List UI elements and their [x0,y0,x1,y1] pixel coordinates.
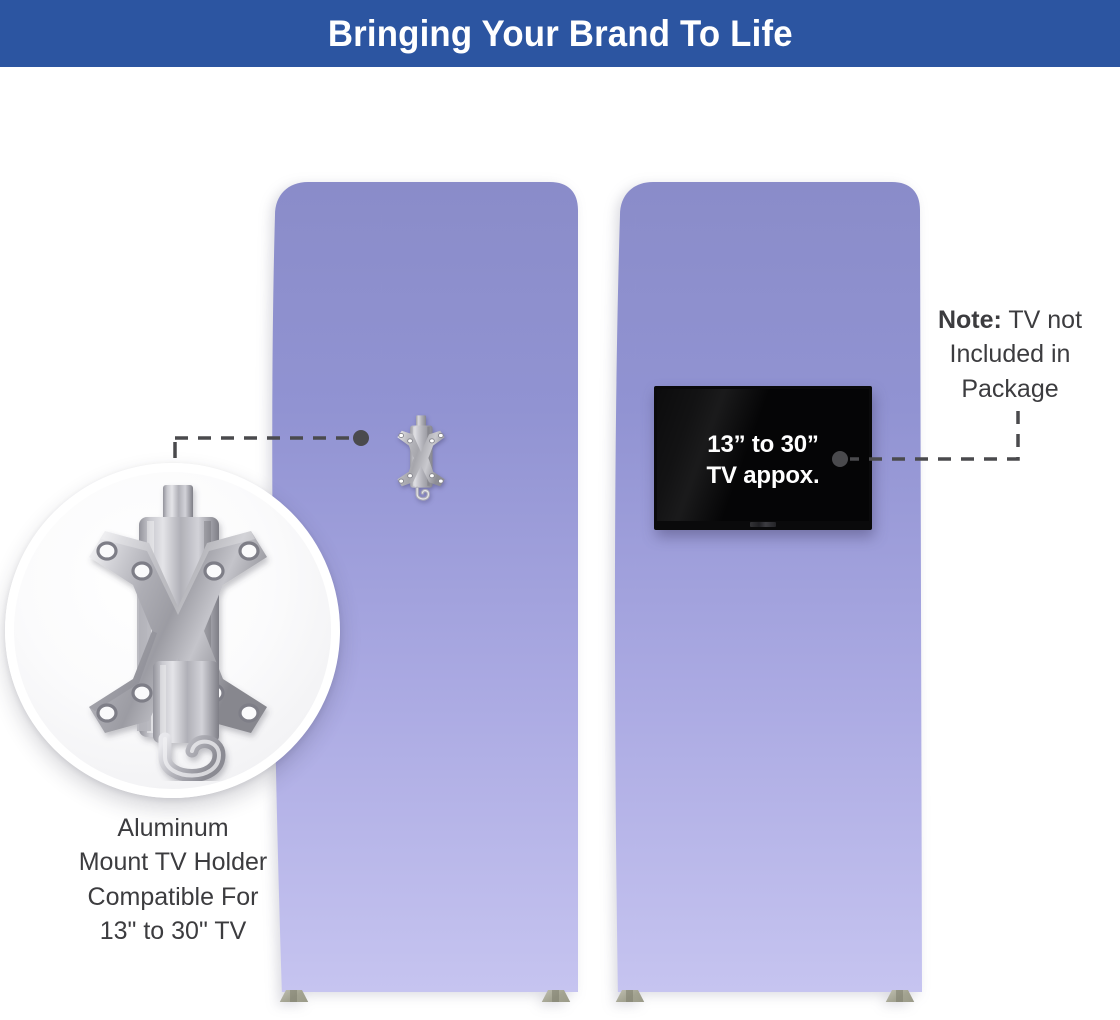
panel-right-fabric [615,182,922,992]
leader-dash-elbow [850,411,1018,459]
header-banner: Bringing Your Brand To Life [0,0,1120,67]
leader-line-to-tv [826,407,1036,477]
tv-caption-line-2: TV appox. [707,462,820,489]
tv-mount-bracket-on-panel [384,412,458,504]
tv-brand-logo [750,522,776,527]
mount-caption: Aluminum Mount TV Holder Compatible For … [18,811,328,948]
note-line-2: Included in [950,340,1071,368]
mount-caption-line-4: 13" to 30" TV [18,914,328,948]
page-title: Bringing Your Brand To Life [328,13,793,55]
note-line-1-rest: TV not [1002,306,1082,334]
mount-caption-line-1: Aluminum [18,811,328,845]
bracket-magnifier-inset [5,463,340,798]
note-label: Note: [938,306,1002,334]
leader-endpoint-dot [832,451,848,467]
tv-not-included-note: Note: TV not Included in Package [912,303,1108,406]
leader-endpoint-dot [353,430,369,446]
leader-line-to-bracket [172,422,372,462]
tv-caption-line-1: 13” to 30” [707,431,818,458]
note-line-3: Package [961,375,1058,403]
mount-caption-line-2: Mount TV Holder [18,845,328,879]
mount-caption-line-3: Compatible For [18,880,328,914]
fabric-display-panel-right [592,112,932,1002]
panel-right-shadow [592,112,932,1002]
product-illustration-stage: 13” to 30” TV appox. Note: TV not Includ… [0,67,1120,1020]
aluminum-vesa-tv-mount-bracket [53,481,303,781]
